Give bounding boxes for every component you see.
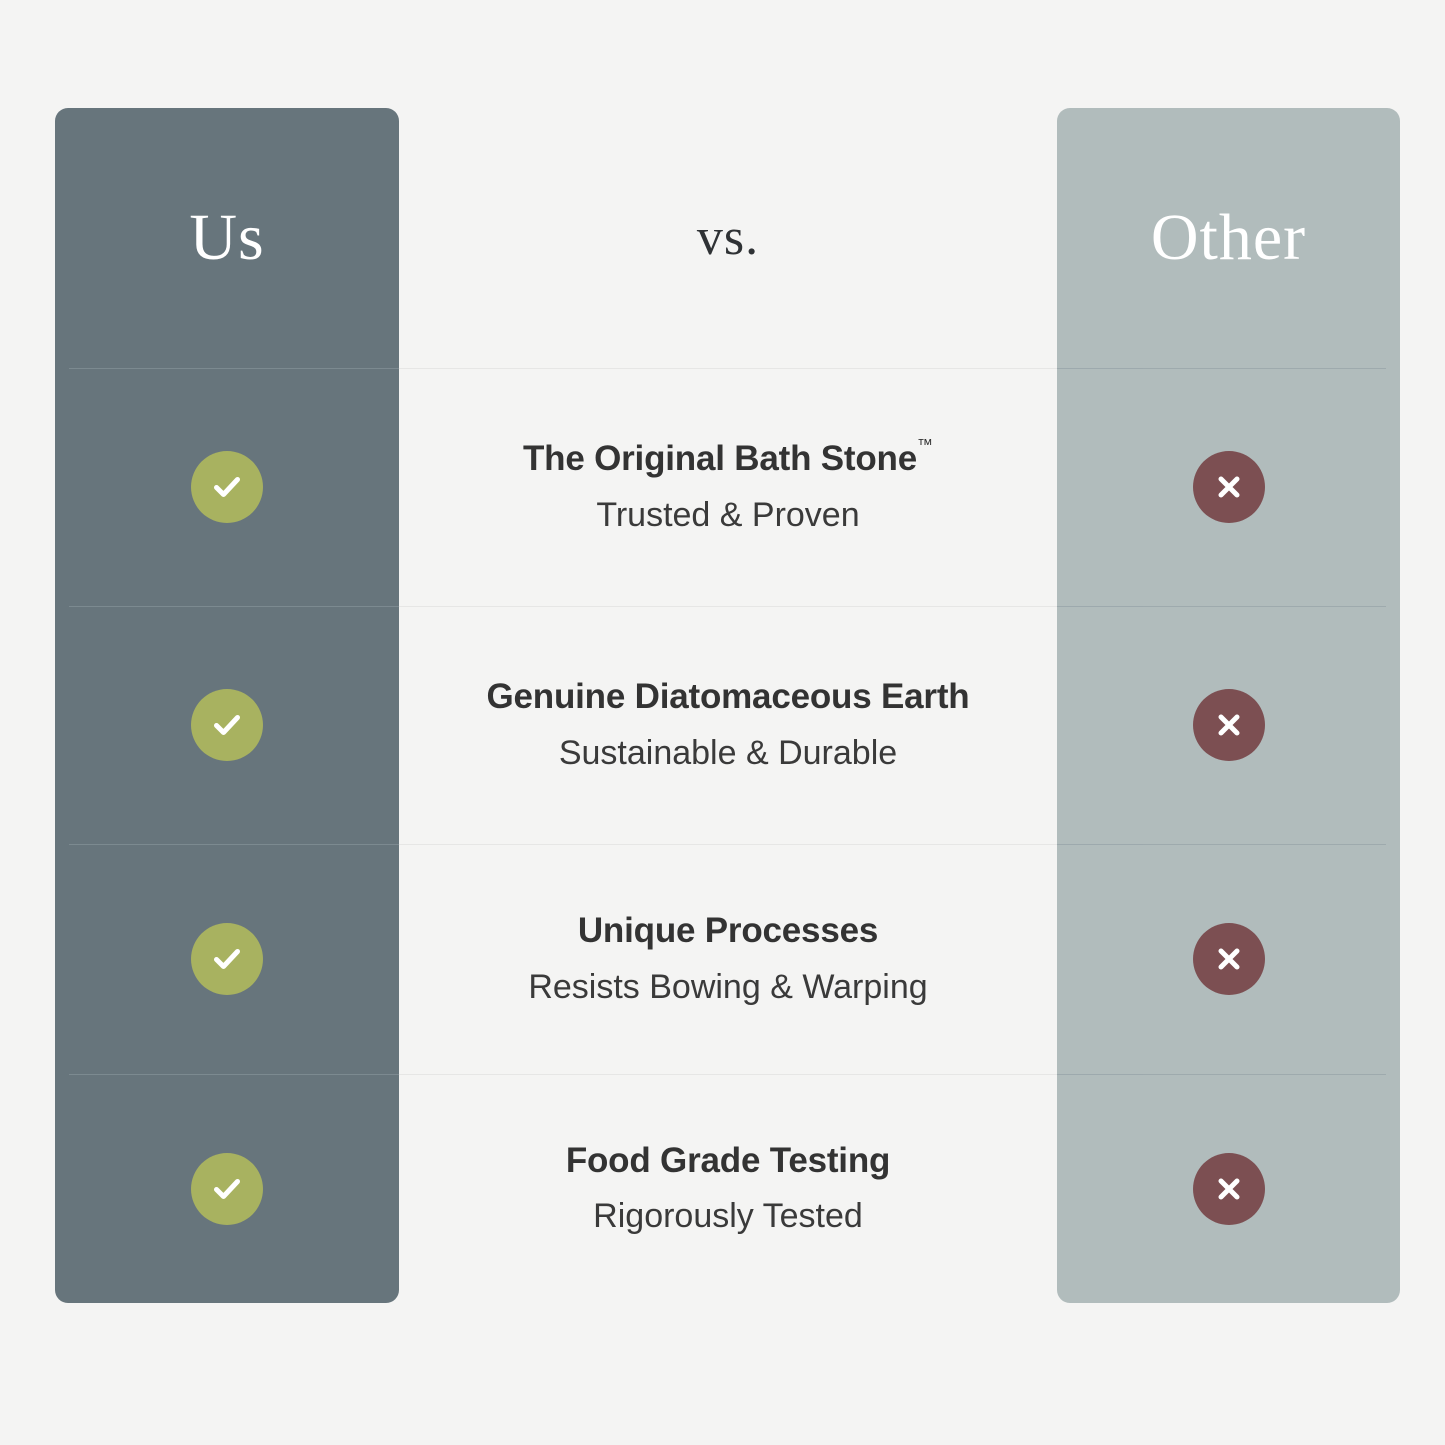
other-status-cell (1057, 1074, 1400, 1303)
feature-cell: The Original Bath Stone™ Trusted & Prove… (399, 368, 1057, 606)
feature-title: The Original Bath Stone™ (523, 439, 933, 479)
check-icon (191, 689, 263, 761)
vs-label: vs. (697, 212, 759, 264)
comparison-table-graphic: Us vs. Other The Origin (0, 0, 1445, 1445)
other-column-title: Other (1151, 205, 1306, 271)
check-icon (191, 1153, 263, 1225)
other-status-cell (1057, 844, 1400, 1074)
us-status-cell (55, 844, 399, 1074)
trademark-symbol: ™ (917, 437, 933, 454)
table-row: Food Grade Testing Rigorously Tested (55, 1074, 1400, 1303)
us-status-cell (55, 368, 399, 606)
table-row: Unique Processes Resists Bowing & Warpin… (55, 844, 1400, 1074)
feature-subtitle: Trusted & Proven (523, 496, 933, 535)
feature-title: Genuine Diatomaceous Earth (487, 677, 970, 717)
other-status-cell (1057, 606, 1400, 844)
feature-title: Unique Processes (528, 911, 927, 951)
comparison-table: Us vs. Other The Origin (55, 108, 1400, 1303)
us-status-cell (55, 1074, 399, 1303)
feature-title: Food Grade Testing (566, 1141, 890, 1181)
header-cell-vs: vs. (399, 108, 1057, 368)
feature-cell: Genuine Diatomaceous Earth Sustainable &… (399, 606, 1057, 844)
cross-icon (1193, 451, 1265, 523)
cross-icon (1193, 1153, 1265, 1225)
feature-cell: Food Grade Testing Rigorously Tested (399, 1074, 1057, 1303)
check-icon (191, 923, 263, 995)
feature-subtitle: Resists Bowing & Warping (528, 968, 927, 1007)
us-status-cell (55, 606, 399, 844)
table-row: Genuine Diatomaceous Earth Sustainable &… (55, 606, 1400, 844)
feature-text-block: Food Grade Testing Rigorously Tested (546, 1141, 910, 1236)
us-column-title: Us (189, 205, 264, 271)
header-cell-us: Us (55, 108, 399, 368)
cross-icon (1193, 923, 1265, 995)
header-cell-other: Other (1057, 108, 1400, 368)
feature-subtitle: Sustainable & Durable (487, 734, 970, 773)
feature-text-block: Unique Processes Resists Bowing & Warpin… (508, 911, 947, 1006)
feature-cell: Unique Processes Resists Bowing & Warpin… (399, 844, 1057, 1074)
cross-icon (1193, 689, 1265, 761)
feature-text-block: Genuine Diatomaceous Earth Sustainable &… (467, 677, 990, 772)
feature-text-block: The Original Bath Stone™ Trusted & Prove… (503, 439, 953, 534)
check-icon (191, 451, 263, 523)
feature-subtitle: Rigorously Tested (566, 1197, 890, 1236)
table-row: The Original Bath Stone™ Trusted & Prove… (55, 368, 1400, 606)
other-status-cell (1057, 368, 1400, 606)
table-header-row: Us vs. Other (55, 108, 1400, 368)
